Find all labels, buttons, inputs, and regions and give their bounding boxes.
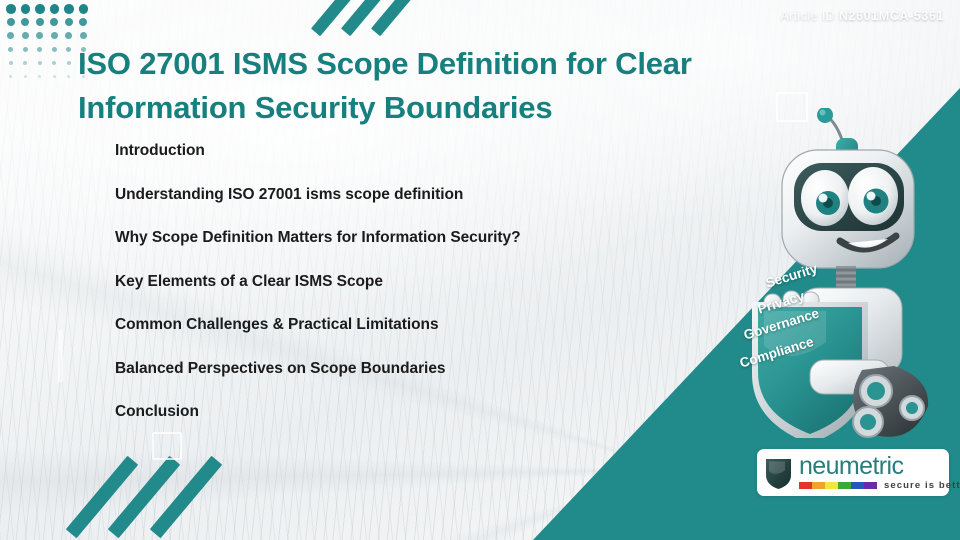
decorative-dot (65, 18, 73, 26)
diagonal-stripes-top (325, 0, 435, 36)
robot-tread-wheel (853, 366, 928, 438)
robot-svg (736, 108, 960, 438)
agenda-item: Why Scope Definition Matters for Informa… (115, 229, 735, 247)
robot-mascot-illustration: Security Privacy Governance Compliance (736, 108, 960, 438)
decorative-dot (53, 75, 56, 78)
decorative-dot (9, 61, 13, 65)
agenda-item: Understanding ISO 27001 isms scope defin… (115, 186, 735, 204)
decorative-dot (7, 32, 14, 39)
neumetric-color-bars (799, 482, 877, 489)
decorative-dot (52, 47, 57, 52)
agenda-item: Conclusion (115, 403, 735, 421)
decorative-dot (65, 32, 72, 39)
article-id-value: N2601MCA-5361 (839, 9, 944, 23)
decorative-dot (79, 18, 87, 26)
logo-color-bar (851, 482, 864, 489)
decorative-dot (37, 47, 42, 52)
neumetric-logo[interactable]: neumetric secure is better (757, 449, 949, 496)
decorative-dot (52, 61, 56, 65)
decorative-dot (79, 4, 89, 14)
decorative-dot (23, 47, 28, 52)
agenda-item: Introduction (115, 142, 735, 160)
page-title: ISO 27001 ISMS Scope Definition for Clea… (78, 42, 838, 130)
decorative-dot (50, 18, 58, 26)
decorative-dot (67, 75, 70, 78)
decorative-dot (80, 32, 87, 39)
agenda-list: IntroductionUnderstanding ISO 27001 isms… (115, 142, 735, 447)
presentation-slide: Article ID N2601MCA-5361 ISO 27001 ISMS … (0, 0, 960, 540)
decorative-dot (50, 4, 60, 14)
decorative-dot (24, 75, 27, 78)
decorative-dot (66, 47, 71, 52)
agenda-item: Key Elements of a Clear ISMS Scope (115, 273, 735, 291)
decorative-dot (64, 4, 74, 14)
decorative-dot (21, 18, 29, 26)
decorative-dot (8, 47, 13, 52)
agenda-item: Common Challenges & Practical Limitation… (115, 316, 735, 334)
article-id-label: Article ID (780, 9, 835, 23)
decorative-dot (36, 18, 44, 26)
agenda-item: Balanced Perspectives on Scope Boundarie… (115, 360, 735, 378)
decorative-dot (67, 61, 71, 65)
decorative-dot (22, 32, 29, 39)
decorative-dot (7, 18, 15, 26)
decorative-dot (36, 32, 43, 39)
logo-color-bar (838, 482, 851, 489)
decorative-dot (21, 4, 31, 14)
decorative-dot (38, 75, 41, 78)
decorative-dot (38, 61, 42, 65)
decorative-dot (6, 4, 16, 14)
decorative-dot (51, 32, 58, 39)
decorative-dot (35, 4, 45, 14)
ghost-bar-left (58, 330, 63, 382)
neumetric-logo-text: neumetric secure is better (799, 454, 960, 491)
decorative-dot (23, 61, 27, 65)
neumetric-shield-icon (764, 456, 793, 490)
diagonal-stripes-bottom (95, 455, 245, 540)
article-id: Article ID N2601MCA-5361 (780, 9, 944, 23)
logo-color-bar (825, 482, 838, 489)
logo-color-bar (864, 482, 877, 489)
neumetric-tagline: secure is better (884, 480, 960, 491)
logo-color-bar (812, 482, 825, 489)
logo-color-bar (799, 482, 812, 489)
decorative-dot (9, 75, 12, 78)
neumetric-wordmark: neumetric (799, 454, 960, 478)
